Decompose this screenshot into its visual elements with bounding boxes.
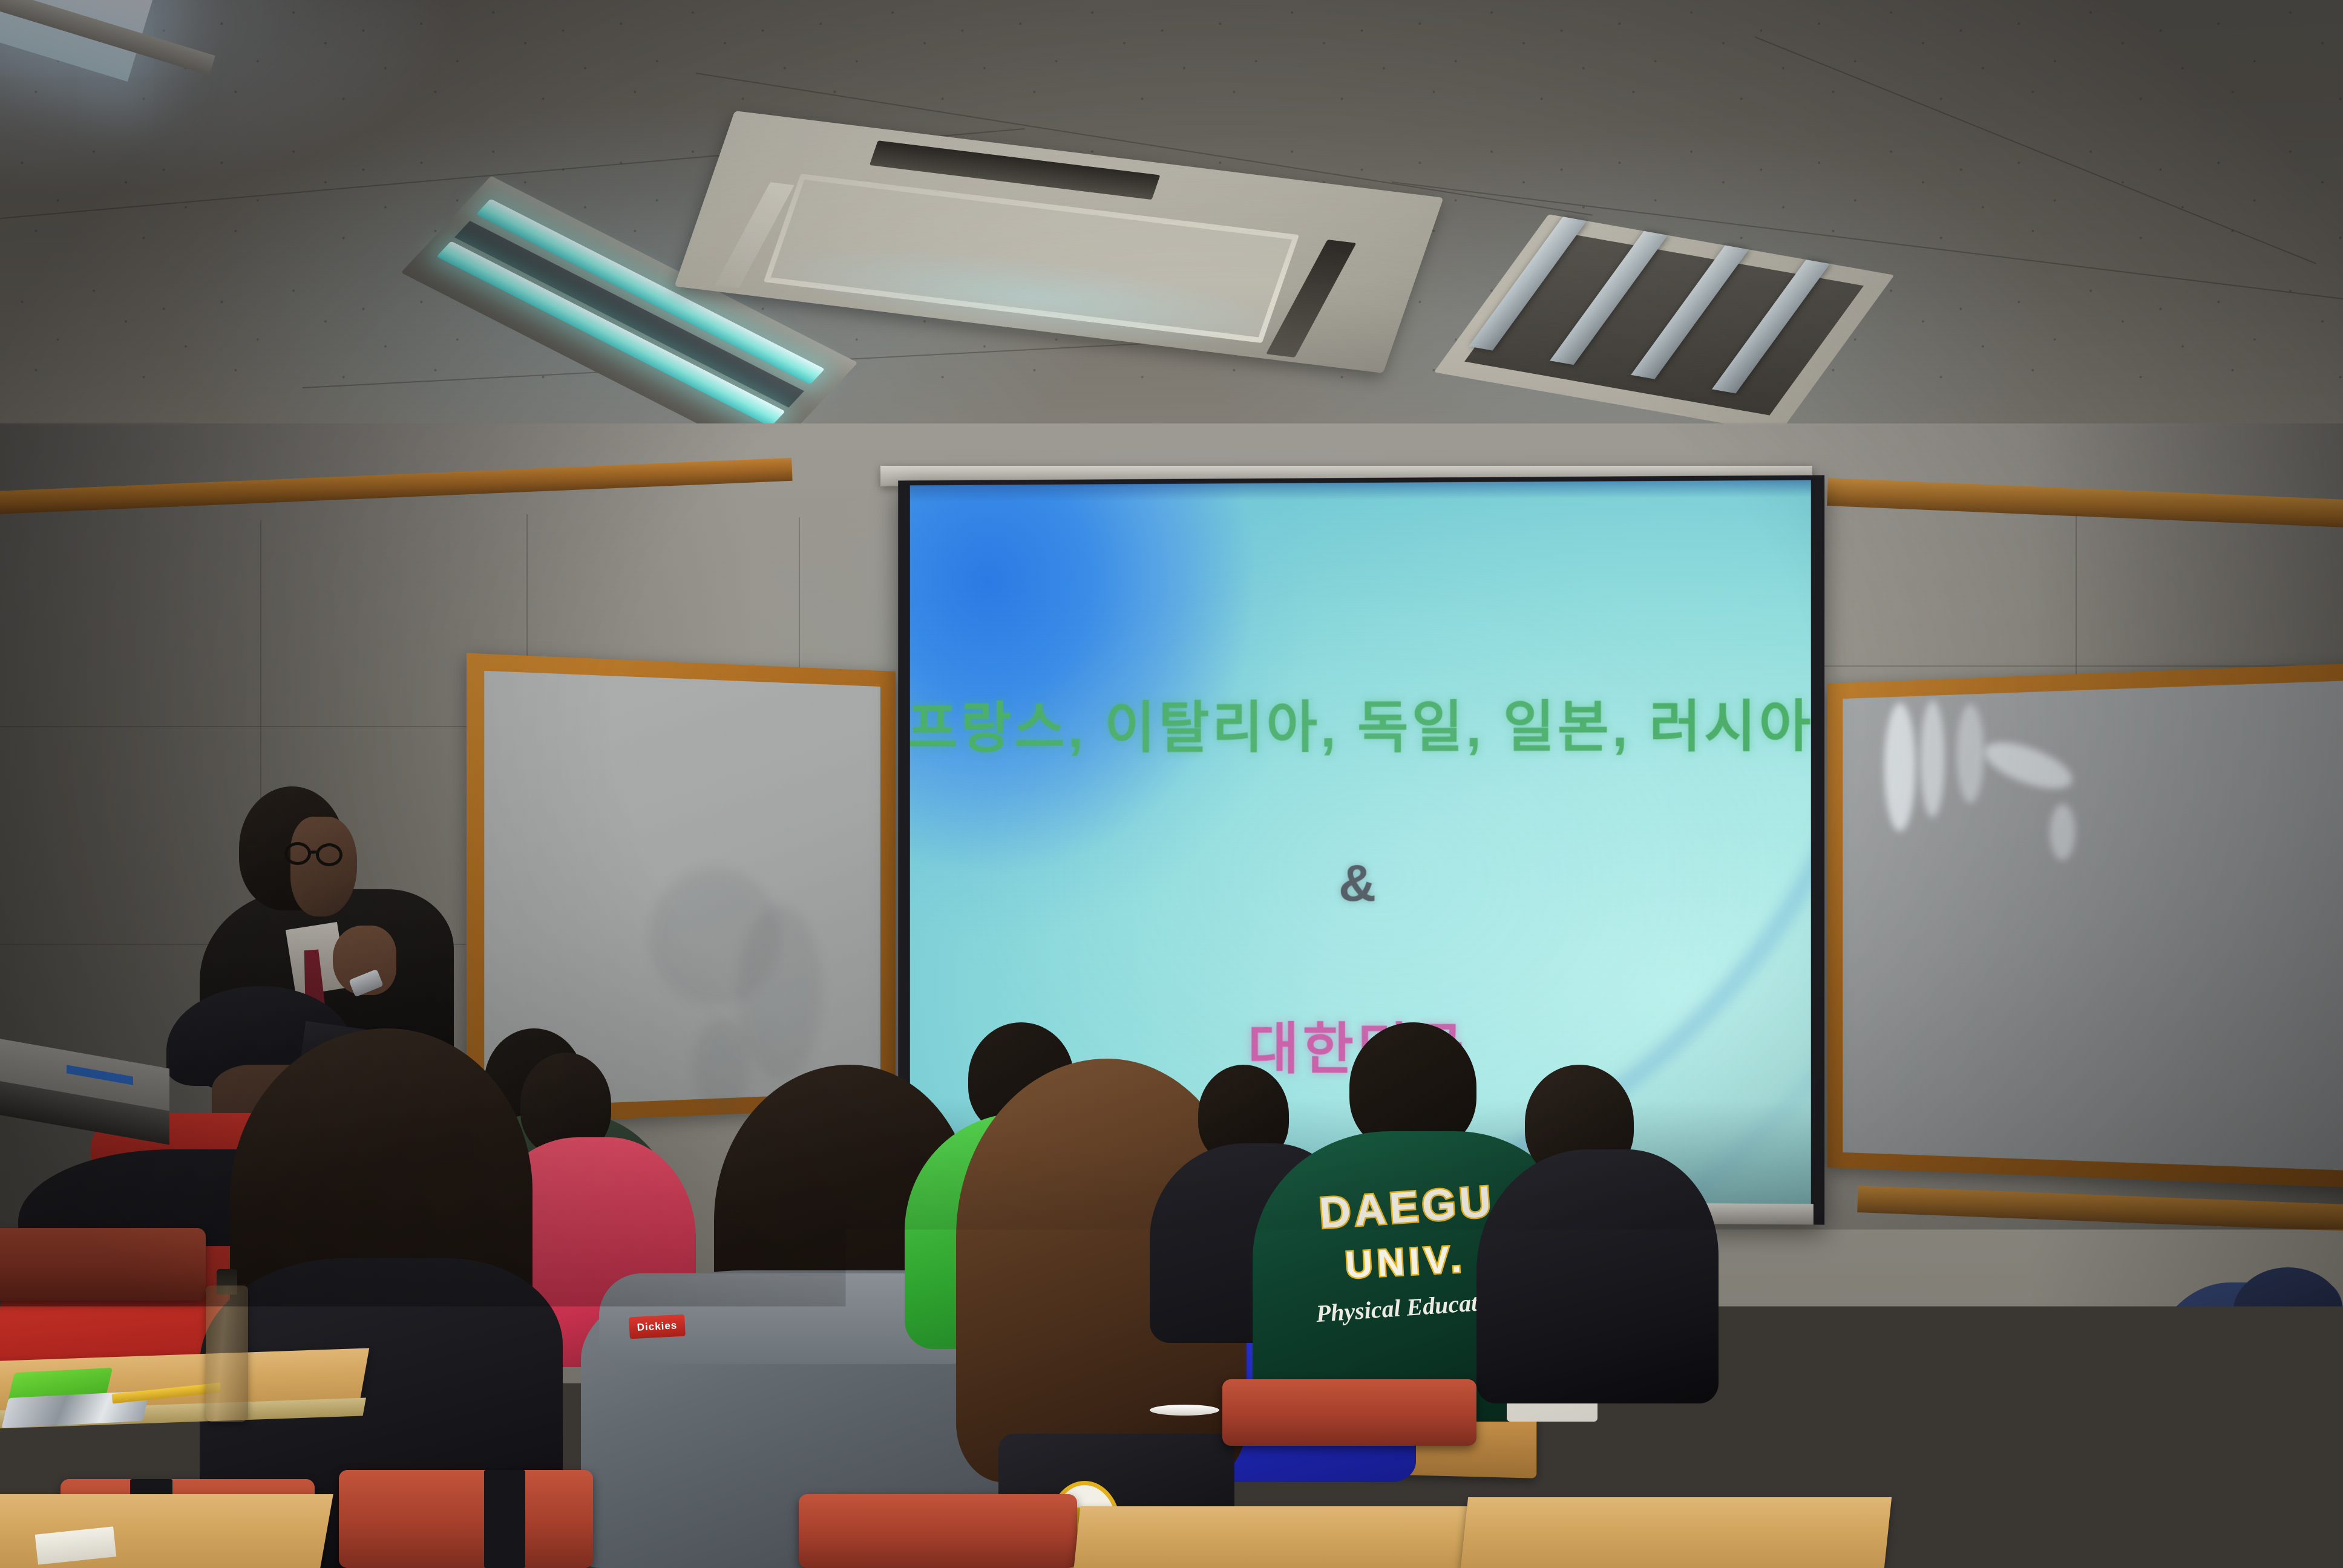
dickies-brand-patch: Dickies [629,1315,686,1339]
desk-top [1567,1410,1894,1445]
coffee-cup-logo: ee [1162,1443,1210,1479]
eyeglasses-icon [284,842,351,867]
whiteboard-surface [1843,681,2343,1171]
desk-top [1074,1506,1474,1568]
desk-top [1461,1497,1892,1568]
glass-bottle [206,1285,248,1422]
desk-edge [1686,1378,1982,1391]
student-black-coat-right [1476,1149,1719,1403]
slide-country-list: 프랑스, 이탈리아, 독일, 일본, 러시아 [910,681,1811,763]
desk-edge [1570,1441,1890,1457]
coffee-cup-brand: JARDIN [1157,1494,1211,1504]
chair-back [339,1470,593,1568]
chair-back [799,1494,1077,1568]
desk-top [1682,1349,1985,1382]
chair-back [1222,1379,1476,1446]
student-hands [2239,1485,2343,1568]
chair-back [0,1228,206,1301]
chair-strap [484,1470,525,1568]
slide-ampersand: & [1339,854,1376,913]
classroom-photo: 프랑스, 이탈리아, 독일, 일본, 러시아 & 대한민국 [0,0,2343,1568]
student-head [2233,1267,2343,1358]
whiteboard-right [1827,663,2343,1189]
